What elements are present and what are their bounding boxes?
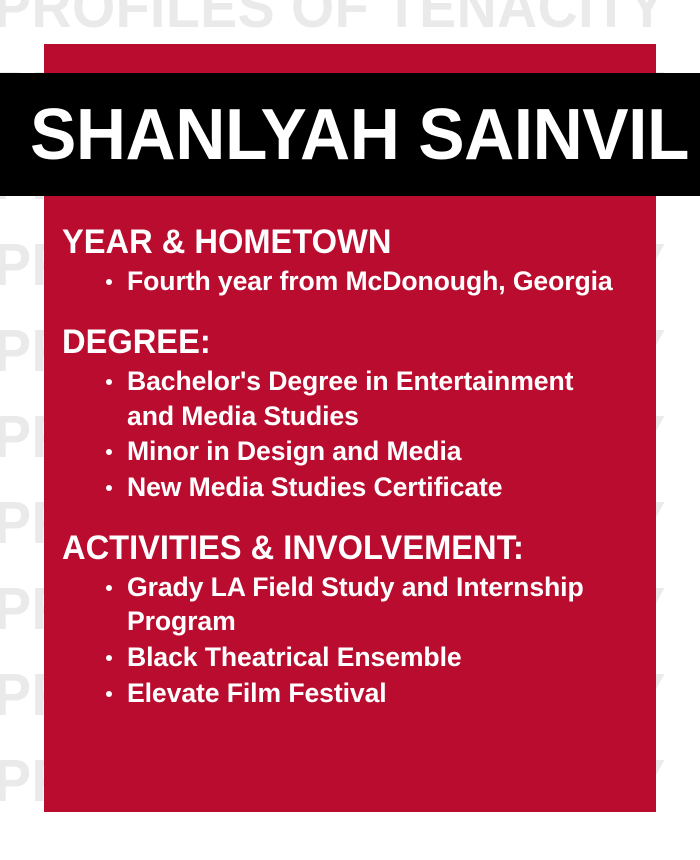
bullet-dot-icon: [106, 691, 112, 697]
profile-section: DEGREE:Bachelor's Degree in Entertainmen…: [62, 324, 632, 504]
bullet-dot-icon: [106, 279, 112, 285]
page-title: SHANLYAH SAINVIL: [30, 99, 689, 171]
list-item-label: Elevate Film Festival: [127, 676, 624, 711]
list-item: Minor in Design and Media: [106, 434, 632, 469]
list-item: Elevate Film Festival: [106, 676, 632, 711]
profile-section: ACTIVITIES & INVOLVEMENT:Grady LA Field …: [62, 530, 632, 710]
section-heading: ACTIVITIES & INVOLVEMENT:: [62, 530, 609, 567]
name-banner: SHANLYAH SAINVIL: [0, 73, 700, 196]
list-item: New Media Studies Certificate: [106, 470, 632, 505]
list-item-label: Bachelor's Degree in Entertainment and M…: [127, 364, 624, 433]
list-item: Fourth year from McDonough, Georgia: [106, 264, 632, 299]
bullet-dot-icon: [106, 379, 112, 385]
bullet-dot-icon: [106, 655, 112, 661]
list-item-label: Black Theatrical Ensemble: [127, 640, 624, 675]
list-item: Black Theatrical Ensemble: [106, 640, 632, 675]
bullet-dot-icon: [106, 585, 112, 591]
section-heading: YEAR & HOMETOWN: [62, 224, 609, 261]
section-bullet-list: Bachelor's Degree in Entertainment and M…: [62, 364, 632, 504]
profile-poster: PROFILES OF TENACITYPROFILES OF TENACITY…: [0, 0, 700, 860]
watermark-text-row: PROFILES OF TENACITY: [0, 0, 690, 37]
section-heading: DEGREE:: [62, 324, 609, 361]
list-item-label: Grady LA Field Study and Internship Prog…: [127, 570, 624, 639]
list-item: Grady LA Field Study and Internship Prog…: [106, 570, 632, 639]
list-item-label: Fourth year from McDonough, Georgia: [127, 264, 624, 299]
bullet-dot-icon: [106, 485, 112, 491]
bullet-dot-icon: [106, 449, 112, 455]
profile-details: YEAR & HOMETOWNFourth year from McDonoug…: [44, 196, 656, 812]
list-item: Bachelor's Degree in Entertainment and M…: [106, 364, 632, 433]
section-bullet-list: Grady LA Field Study and Internship Prog…: [62, 570, 632, 710]
profile-section: YEAR & HOMETOWNFourth year from McDonoug…: [62, 224, 632, 298]
list-item-label: New Media Studies Certificate: [127, 470, 624, 505]
section-bullet-list: Fourth year from McDonough, Georgia: [62, 264, 632, 299]
list-item-label: Minor in Design and Media: [127, 434, 624, 469]
